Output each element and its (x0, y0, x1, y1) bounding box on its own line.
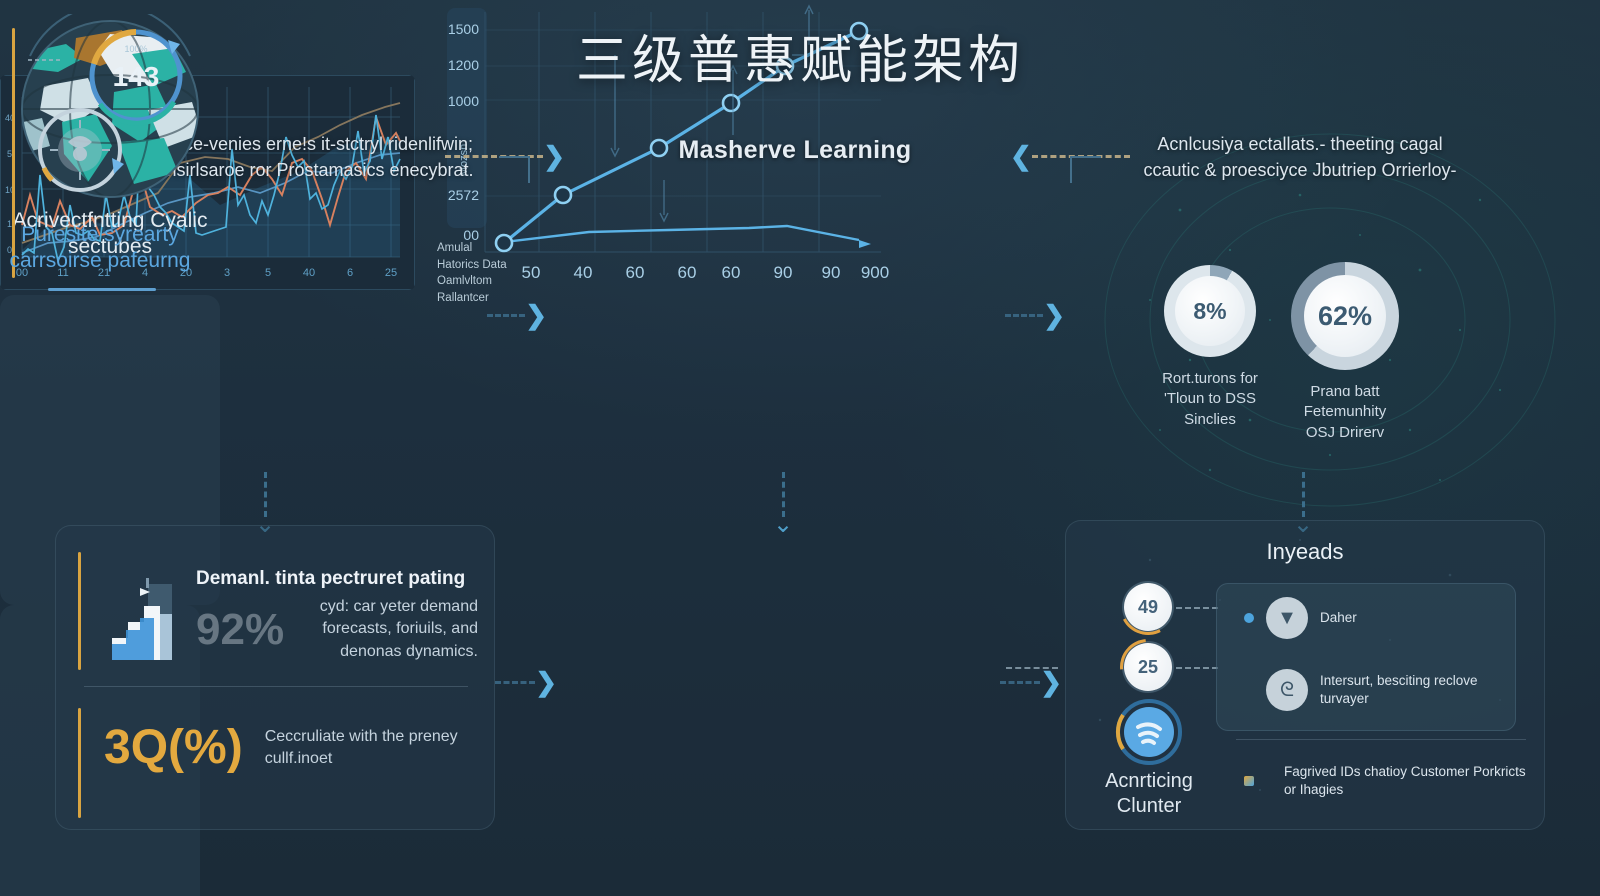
svg-text:60: 60 (626, 263, 645, 282)
metric-title-primary: Demanl. tinta pectruret pating (196, 568, 478, 590)
gauge-value-label: 143 (113, 61, 160, 92)
card-divider (84, 686, 468, 687)
card-demand-metrics: Demanl. tinta pectruret pating 92% cyd: … (55, 525, 495, 830)
dashed-line (1000, 681, 1040, 684)
legend-item-0: Amulal (437, 240, 547, 257)
svg-text:90: 90 (774, 263, 793, 282)
metric-number-primary: 92% (196, 608, 284, 652)
chevron-right-icon: ❯ (1043, 302, 1065, 328)
chevron-down-icon: ⌄ (773, 517, 793, 534)
dashed-line (1005, 314, 1043, 317)
list-item-1[interactable]: ᘓ Intersurt, besciting reclove turvayer (1244, 669, 1520, 711)
connector-bottom-mid-to-right: ❯ (1000, 672, 1062, 692)
column-heading-middle: Masherve Learning (600, 133, 990, 169)
list-item-2-label: Fagrived IDs chatioy Customer Porkricts … (1284, 763, 1534, 799)
accent-bar-top (78, 552, 81, 670)
funnel-icon: ▼ (1266, 597, 1308, 639)
legend-item-1: Hatorics Data (437, 257, 547, 274)
donut-caption-a: Rort.turons for 'Tloun to DSS Sinclies (1160, 369, 1260, 430)
svg-text:1000: 1000 (448, 93, 479, 109)
donut-caption-b: Pranɑ batt Fetemunhity OSЈ Drirerv (1290, 382, 1400, 443)
badge-arc-49 (1113, 572, 1184, 643)
card-caption-synergy: Puresite syrearty carrsoirse pafeurng (0, 222, 200, 275)
donut-chart-a: 8% Rort.turons for 'Tloun to DSS Sinclie… (1160, 265, 1260, 430)
status-dot (1244, 613, 1254, 623)
status-dot (1244, 685, 1254, 695)
bracket-decoration-right (1065, 155, 1105, 185)
caption-underline (48, 288, 138, 291)
list-item-0[interactable]: ▼ Daher (1244, 597, 1357, 639)
svg-text:25: 25 (385, 267, 397, 279)
svg-text:60: 60 (678, 263, 697, 282)
svg-text:3: 3 (224, 267, 230, 279)
cluster-wifi-icon[interactable] (1114, 697, 1184, 767)
legend-item-2: Oamlvltom (437, 273, 547, 290)
metric-text-secondary: Ceccruliate with the preney cullf.inoet (265, 726, 480, 771)
svg-text:2572: 2572 (448, 187, 479, 203)
list-item-2[interactable]: Fagrived IDs chatioy Customer Porkricts … (1244, 763, 1534, 799)
connector-left-mid-arrow: ❯ (487, 305, 547, 325)
infographic-canvas: 三级普惠赋能架构 Prcce-venies erne!s it-stctryl … (0, 0, 1600, 896)
svg-text:100%: 100% (124, 44, 147, 54)
list-divider (1236, 739, 1526, 740)
svg-text:900: 900 (861, 263, 889, 282)
left-chart-legend: Amulal Hatorics Data Oamlvltom Rallantce… (437, 240, 547, 307)
accent-bar-bottom (78, 708, 81, 818)
badge-connector-1 (1176, 607, 1218, 609)
bracket-decoration-left (495, 155, 535, 185)
metric-row-secondary: 3Q(%) Ceccruliate with the preney cullf.… (104, 724, 480, 772)
donut-chart-b: 62% Pranɑ batt Fetemunhity OSЈ Drirerv (1290, 262, 1400, 443)
metric-row-primary: Demanl. tinta pectruret pating 92% cyd: … (196, 568, 478, 663)
legend-item-3: Rallantcer (437, 290, 547, 307)
chevron-right-icon: ❯ (1040, 669, 1062, 695)
svg-text:60: 60 (722, 263, 741, 282)
chevron-left-icon: ❮ (1010, 143, 1032, 169)
svg-text:5: 5 (265, 267, 271, 279)
column-heading-right: Acnlcusiya ectallats.- theeting cagal cc… (1130, 132, 1470, 183)
dashed-line (495, 681, 535, 684)
gauge-cluster-icon: 143 100% (28, 18, 198, 218)
connector-bottom-left-to-mid: ❯ (495, 672, 557, 692)
external-connector (1006, 667, 1058, 669)
list-item-0-label: Daher (1320, 609, 1357, 627)
card-insights: Inyeads 49 25 Acnrticing Clunter ▼ Daher (1065, 520, 1545, 830)
donut-ring-b: 62% (1291, 262, 1399, 370)
chevron-right-icon: ❯ (535, 669, 557, 695)
badge-connector-2 (1176, 667, 1218, 669)
dashed-line (487, 314, 525, 317)
bar-chart-icon (104, 566, 182, 662)
list-item-1-label: Intersurt, besciting reclove turvayer (1320, 672, 1520, 708)
svg-text:40: 40 (303, 267, 315, 279)
metric-number-secondary: 3Q(%) (104, 724, 243, 772)
insights-heading: Inyeads (1066, 539, 1544, 565)
donut-value-a: 8% (1175, 276, 1245, 346)
donut-ring-a: 8% (1164, 265, 1256, 357)
svg-text:90: 90 (822, 263, 841, 282)
donut-value-b: 62% (1304, 275, 1386, 357)
connector-down-middle: ⌄ (770, 472, 796, 534)
swirl-icon: ᘓ (1266, 669, 1308, 711)
svg-text:40: 40 (574, 263, 593, 282)
svg-text:6: 6 (347, 267, 353, 279)
cluster-label: Acnrticing Clunter (1074, 769, 1224, 819)
connector-mid-right-arrow: ❯ (1005, 305, 1065, 325)
metric-text-primary: cyd: car yeter demand forecasts, foriuil… (298, 596, 478, 663)
page-title: 三级普惠赋能架构 (0, 18, 1600, 93)
chevron-right-icon: ❯ (543, 143, 565, 169)
square-dot-icon (1244, 776, 1254, 786)
